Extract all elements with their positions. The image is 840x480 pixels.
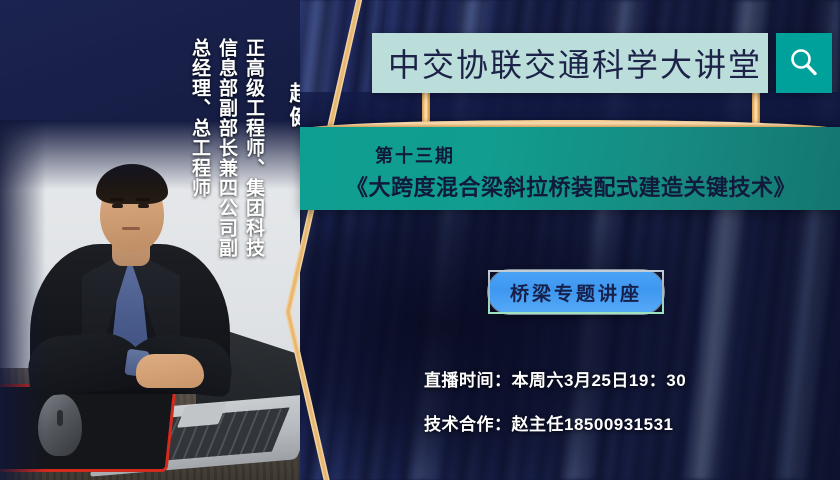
- broadcast-time: 直播时间：本周六3月25日19：30: [424, 366, 686, 391]
- photo-left-fade: [0, 120, 46, 480]
- search-icon: [787, 46, 821, 80]
- speaker-name: 赵健: [283, 82, 300, 130]
- eye-right: [138, 204, 149, 208]
- contact-info: 技术合作：赵主任18500931531: [424, 410, 674, 435]
- category-badge[interactable]: 桥梁专题讲座: [488, 270, 664, 314]
- clasped-hands: [136, 354, 204, 388]
- bridge-pillar-right: [752, 93, 760, 125]
- speaker-panel: 总经理、总工程师 信息部副部长兼四公司副 正高级工程师、集团科技 赵健: [0, 0, 300, 480]
- title-banner: 中交协联交通科学大讲堂: [372, 33, 768, 93]
- speaker-title-line-3: 总经理、总工程师: [186, 38, 213, 198]
- search-button[interactable]: [776, 33, 832, 93]
- webinar-poster: 总经理、总工程师 信息部副部长兼四公司副 正高级工程师、集团科技 赵健 中交协联…: [0, 0, 840, 480]
- speaker-title-line-2: 信息部副部长兼四公司副: [213, 38, 240, 258]
- mouth: [122, 227, 140, 230]
- issue-number: 第十三期: [375, 142, 455, 168]
- page-title: 中交协联交通科学大讲堂: [372, 40, 762, 86]
- eyebrow-left: [110, 198, 124, 201]
- subtitle-panel: 第十三期 《大跨度混合梁斜拉桥装配式建造关键技术》: [300, 127, 840, 210]
- eye-left: [112, 204, 123, 208]
- category-badge-label: 桥梁专题讲座: [510, 279, 642, 306]
- eyebrow-right: [136, 198, 150, 201]
- bridge-pillar-left: [422, 93, 430, 125]
- speaker-title-line-1: 正高级工程师、集团科技: [240, 38, 267, 258]
- lecture-topic: 《大跨度混合梁斜拉桥装配式建造关键技术》: [310, 170, 832, 202]
